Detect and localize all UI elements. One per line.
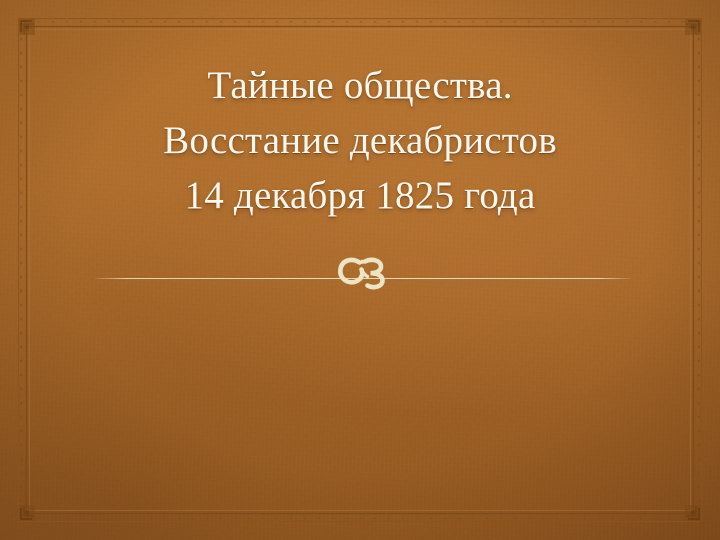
- title-line-2: Восстание декабристов: [60, 113, 660, 168]
- title-divider: [95, 262, 631, 308]
- title-line-3: 14 декабря 1825 года: [60, 168, 660, 223]
- title-line-1: Тайные общества.: [60, 58, 660, 113]
- floral-heart-ornament-svg: [332, 250, 394, 296]
- presentation-title-slide: Тайные общества. Восстание декабристов 1…: [0, 0, 720, 540]
- floral-heart-ornament: [332, 250, 394, 296]
- slide-title: Тайные общества. Восстание декабристов 1…: [60, 58, 660, 223]
